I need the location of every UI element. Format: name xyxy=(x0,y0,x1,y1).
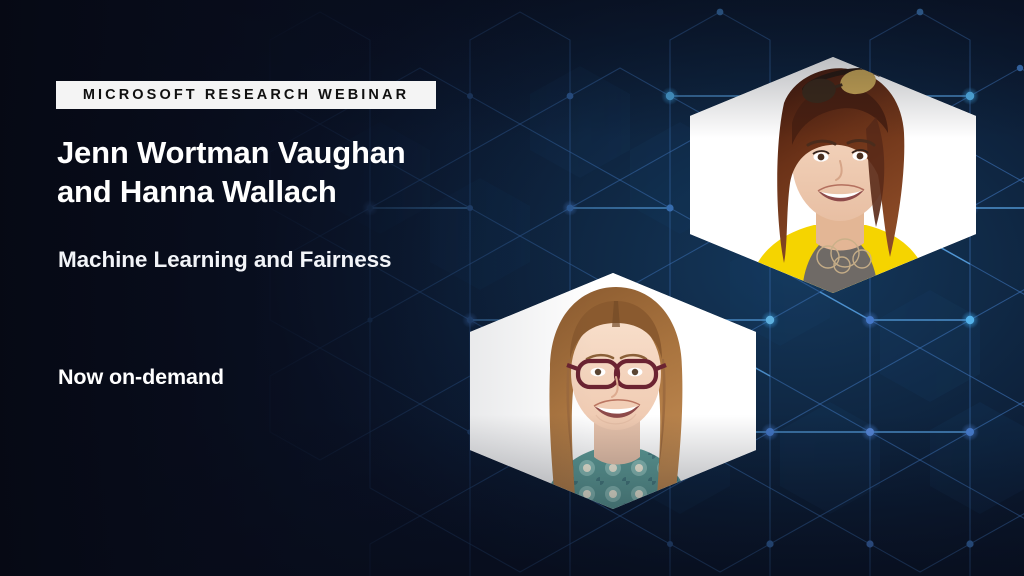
webinar-promo-slide: MICROSOFT RESEARCH WEBINAR Jenn Wortman … xyxy=(0,0,1024,576)
webinar-topic-subtitle: Machine Learning and Fairness xyxy=(58,247,391,273)
headline-line-1: Jenn Wortman Vaughan xyxy=(57,133,487,172)
webinar-eyebrow-label: MICROSOFT RESEARCH WEBINAR xyxy=(83,88,409,103)
availability-status: Now on-demand xyxy=(58,365,224,390)
webinar-eyebrow-badge: MICROSOFT RESEARCH WEBINAR xyxy=(56,81,436,109)
page-title: Jenn Wortman Vaughan and Hanna Wallach xyxy=(57,133,487,212)
headline-line-2: and Hanna Wallach xyxy=(57,172,487,211)
